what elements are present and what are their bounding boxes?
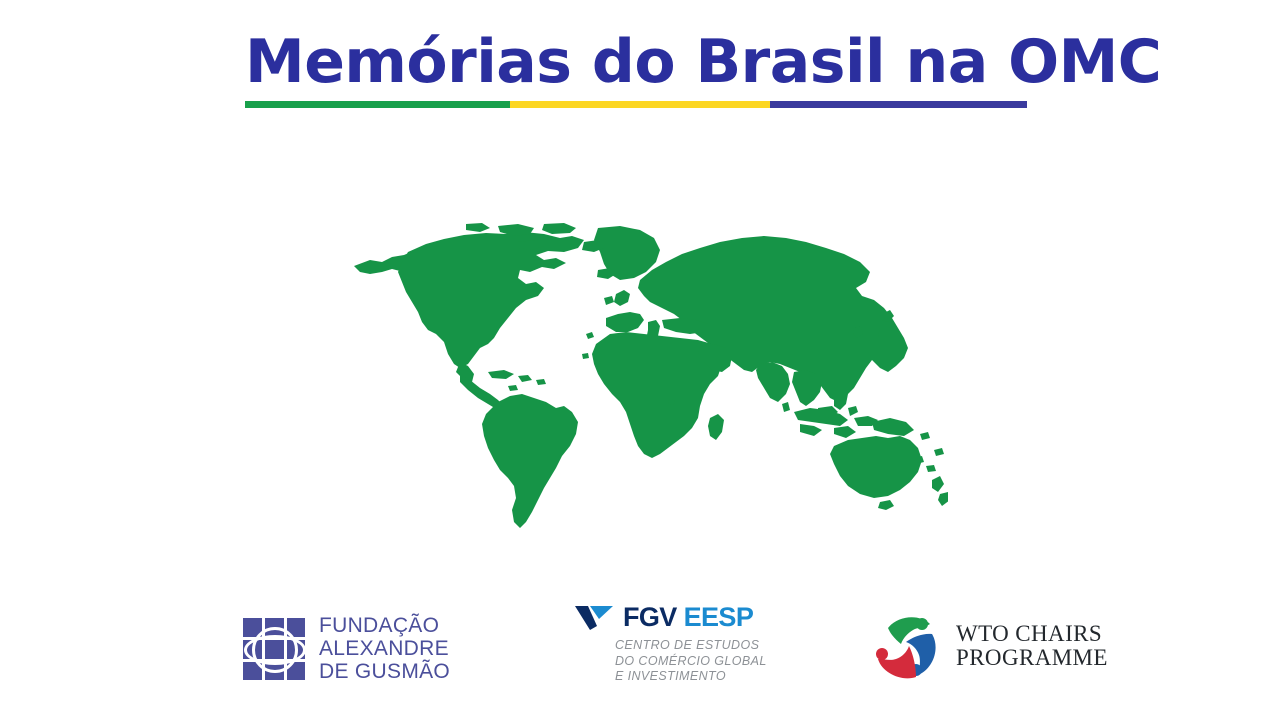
funag-line-1: FUNDAÇÃO xyxy=(319,614,450,637)
wto-line-2: PROGRAMME xyxy=(956,646,1108,670)
wto-chairs-figures-mark-icon xyxy=(868,610,946,682)
fgv-chevron-mark-icon xyxy=(575,605,615,631)
fgv-wordmark: FGV EESP xyxy=(623,604,753,631)
fgv-word-secondary: EESP xyxy=(684,602,754,632)
logo-wto-chairs-programme: WTO CHAIRS PROGRAMME xyxy=(868,610,1108,682)
fgv-word-primary: FGV xyxy=(623,602,677,632)
fgv-subtitle-line-2: DO COMÉRCIO GLOBAL xyxy=(615,654,767,670)
fgv-subtitle: CENTRO DE ESTUDOS DO COMÉRCIO GLOBAL E I… xyxy=(615,638,767,685)
rule-segment-green xyxy=(245,101,510,108)
funag-globe-emblem-icon xyxy=(243,618,305,680)
title-underline-rule xyxy=(245,101,1027,108)
logo-funag: FUNDAÇÃO ALEXANDRE DE GUSMÃO xyxy=(243,614,450,683)
page-title: Memórias do Brasil na OMC xyxy=(245,28,1027,96)
logo-strip: FUNDAÇÃO ALEXANDRE DE GUSMÃO FGV EESP CE… xyxy=(0,596,1280,706)
wto-line-1: WTO CHAIRS xyxy=(956,622,1108,646)
title-block: Memórias do Brasil na OMC xyxy=(245,28,1027,118)
rule-segment-blue xyxy=(770,101,1027,108)
world-map-icon xyxy=(348,222,948,538)
fgv-subtitle-line-1: CENTRO DE ESTUDOS xyxy=(615,638,767,654)
fgv-subtitle-line-3: E INVESTIMENTO xyxy=(615,669,767,685)
rule-segment-yellow xyxy=(510,101,770,108)
funag-wordmark: FUNDAÇÃO ALEXANDRE DE GUSMÃO xyxy=(319,614,450,683)
fgv-lockup: FGV EESP xyxy=(575,604,753,631)
wto-wordmark: WTO CHAIRS PROGRAMME xyxy=(956,622,1108,670)
funag-line-2: ALEXANDRE xyxy=(319,637,450,660)
funag-line-3: DE GUSMÃO xyxy=(319,660,450,683)
logo-fgv-eesp: FGV EESP CENTRO DE ESTUDOS DO COMÉRCIO G… xyxy=(575,604,767,685)
presentation-slide: Memórias do Brasil na OMC xyxy=(0,0,1280,719)
